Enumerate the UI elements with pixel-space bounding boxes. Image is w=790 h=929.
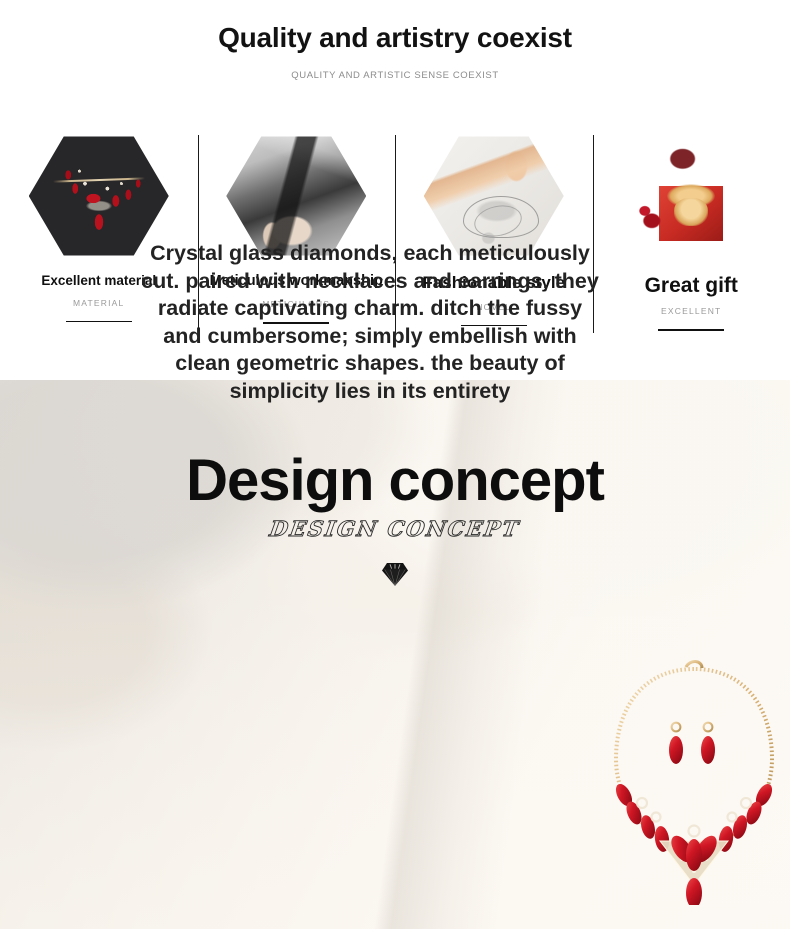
concept-title: Design concept	[0, 452, 790, 510]
diamond-icon	[381, 561, 409, 592]
red-crystal-necklace-earring-set	[598, 655, 790, 905]
concept-script-subtitle: DESIGN CONCEPT	[0, 516, 790, 541]
concept-body-text: Crystal glass diamonds, each meticulousl…	[140, 240, 600, 405]
concept-content: Design concept DESIGN CONCEPT Crystal gl…	[0, 0, 790, 929]
